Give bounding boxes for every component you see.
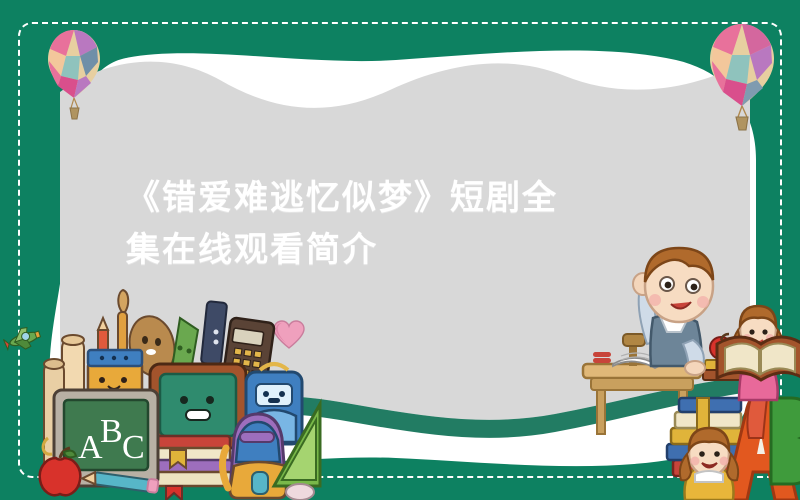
eraser-stick-icon: [201, 301, 227, 365]
students-illustration: [575, 248, 800, 500]
eraser-icon: [286, 484, 314, 500]
svg-text:C: C: [122, 429, 145, 466]
title-line-1: 《错爱难逃忆似梦》短剧全: [126, 172, 706, 224]
hot-air-balloon-icon: [44, 28, 104, 124]
hot-air-balloon-icon: [706, 22, 778, 134]
pen-icon: [593, 352, 611, 357]
svg-text:B: B: [100, 413, 123, 450]
letter-b-icon: [771, 398, 800, 484]
pen-icon: [593, 358, 611, 363]
school-supplies-illustration: A B C: [30, 290, 360, 500]
student-boy-icon: [633, 248, 713, 375]
poster-canvas: 《错爱难逃忆似梦》短剧全 集在线观看简介: [0, 0, 800, 500]
